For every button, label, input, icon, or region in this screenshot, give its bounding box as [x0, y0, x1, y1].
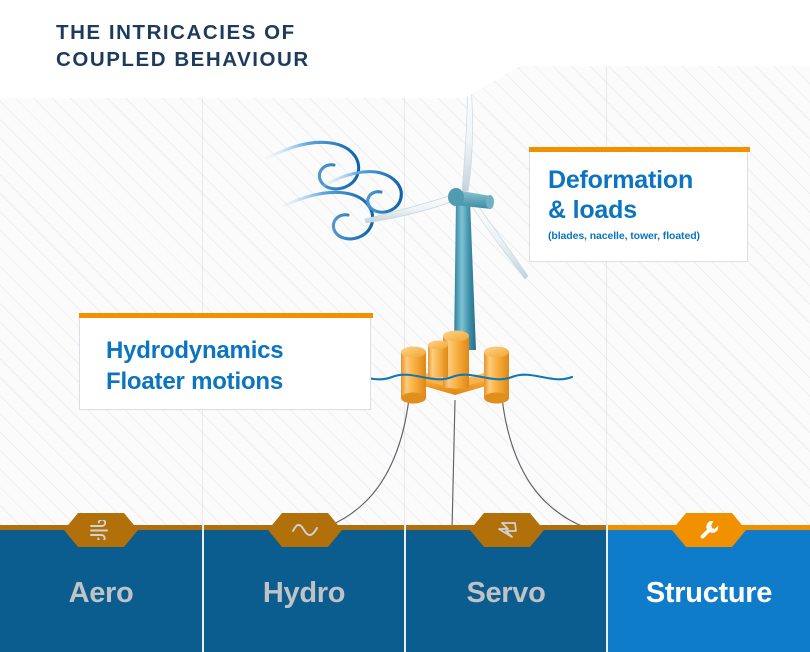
mooring-line-group [296, 398, 626, 536]
page-title: THE INTRICACIES OF COUPLED BEHAVIOUR [56, 19, 310, 73]
callout-deformation: Deformation & loads (blades, nacelle, to… [529, 152, 748, 262]
wrench-icon [698, 519, 720, 541]
callout-hydrodynamics: Hydrodynamics Floater motions [79, 318, 371, 410]
category-label-hydro: Hydro [204, 577, 404, 610]
turbine-nacelle [448, 188, 494, 209]
floater-structure [401, 331, 509, 404]
wind-swirl-group [267, 142, 401, 239]
category-badge-structure[interactable] [672, 513, 746, 547]
wave-icon [291, 522, 319, 538]
lightning-icon [495, 520, 519, 540]
category-strip: Aero Hydro Servo [0, 525, 810, 652]
category-panel-structure[interactable]: Structure [608, 530, 810, 652]
callout-deformation-subtitle: (blades, nacelle, tower, floated) [548, 230, 700, 242]
callout-deformation-title: Deformation & loads [548, 165, 693, 225]
callout-accent-bar [79, 313, 373, 318]
category-label-servo: Servo [406, 577, 606, 610]
turbine-rotor [365, 82, 528, 279]
category-panel-aero[interactable]: Aero [0, 530, 202, 652]
callout-hydrodynamics-title: Hydrodynamics Floater motions [106, 335, 283, 397]
wind-icon [88, 520, 114, 540]
callout-accent-bar [529, 147, 750, 152]
infographic-canvas: THE INTRICACIES OF COUPLED BEHAVIOUR Def… [0, 0, 810, 652]
category-badge-servo[interactable] [470, 513, 544, 547]
category-badge-aero[interactable] [64, 513, 138, 547]
turbine-tower [454, 200, 476, 350]
category-panel-servo[interactable]: Servo [406, 530, 606, 652]
category-label-aero: Aero [0, 577, 202, 610]
category-panel-hydro[interactable]: Hydro [204, 530, 404, 652]
category-badge-hydro[interactable] [268, 513, 342, 547]
category-label-structure: Structure [608, 577, 810, 610]
